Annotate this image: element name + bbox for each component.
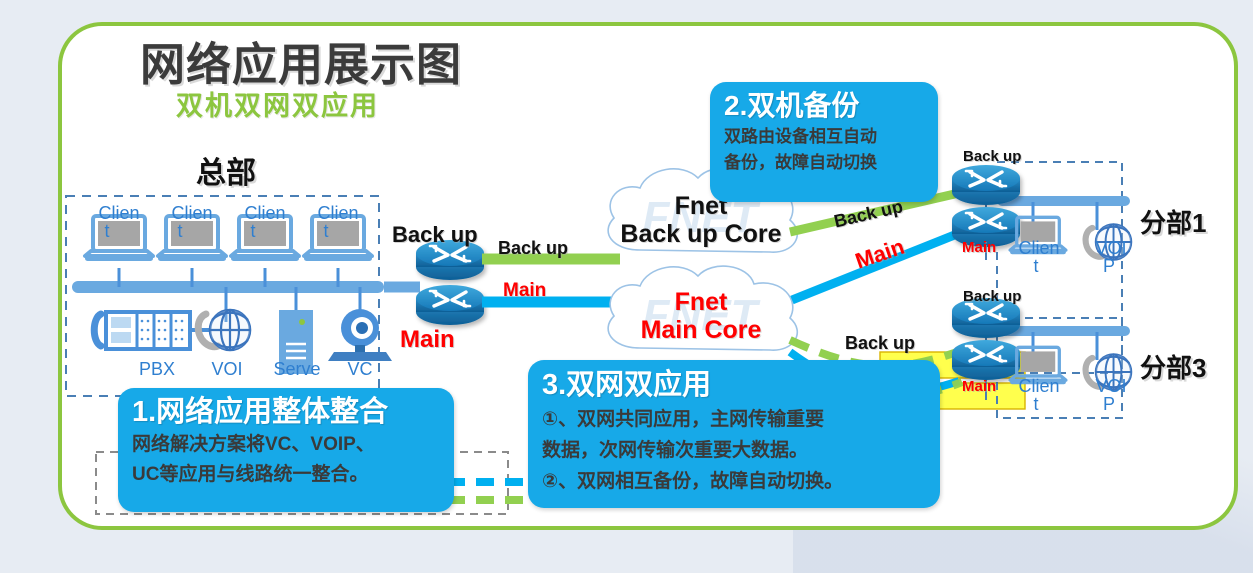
branch3-voip-label-2: P [1099,395,1119,413]
branch3-client-label-2: t [1026,395,1046,413]
callout-3-body-line1: ①、双网共同应用，主网传输重要 [542,404,926,435]
hq-main-link-label: Main [503,280,546,302]
cloud-backup-core-line2: Back up Core [620,220,781,248]
callout-1[interactable]: 1.网络应用整体整合 网络解决方案将VC、VOIP、 UC等应用与线路统一整合。 [118,388,454,512]
branch1-title: 分部1 [1140,203,1206,240]
branch1-router-main-label: Main [962,239,996,256]
vc-label: VC [337,360,383,378]
cloud-main-core-line1: Fnet [675,288,728,316]
branch1-client-label: Clien [1013,239,1065,257]
branch1-client-label-2: t [1026,257,1046,275]
callout-3-body-line3: ②、双网相互备份，故障自动切换。 [542,466,926,497]
cloud-main-core-label: Fnet Main Core [612,288,790,344]
branch3-router-main [952,340,1020,380]
cloud-main-core-line2: Main Core [641,316,762,344]
hq-client-2-label-2: t [170,222,190,240]
callout-1-heading: 1.网络应用整体整合 [132,394,440,430]
branch3-client-label: Clien [1013,377,1065,395]
hq-client-2-label: Clien [166,204,218,222]
branch3-backup-link-label: Back up [845,333,915,354]
callout-3-body-line2: 数据，次网传输次重要大数据。 [542,435,926,466]
hq-client-3-label-2: t [243,222,263,240]
hq-client-3-label: Clien [239,204,291,222]
callout-2-body-line1: 双路由设备相互自动 [724,124,924,150]
hq-client-1-label-2: t [97,222,117,240]
callout-3[interactable]: 3.双网双应用 ①、双网共同应用，主网传输重要 数据，次网传输次重要大数据。 ②… [528,360,940,508]
hq-client-4-label-2: t [316,222,336,240]
callout-2[interactable]: 2.双机备份 双路由设备相互自动 备份，故障自动切换 [710,82,938,202]
vc-icon [328,309,392,361]
branch1-bus [997,196,1130,206]
server-label: Serve [266,360,328,378]
callout-1-body-line1: 网络解决方案将VC、VOIP、 [132,430,440,460]
hq-backup-link-label: Back up [498,238,568,259]
hq-client-1-label: Clien [93,204,145,222]
branch3-router-backup-label: Back up [963,288,1021,305]
callout-1-body-line2: UC等应用与线路统一整合。 [132,460,440,490]
page-subtitle: 双机双网双应用 [176,84,379,123]
hq-router-main-label: Main [400,326,455,354]
hq-router-backup-label: Back up [392,222,478,248]
callout-2-heading: 2.双机备份 [724,88,924,124]
voi-label: VOI [200,360,254,378]
branch3-router-main-label: Main [962,378,996,395]
pbx-label: PBX [130,360,184,378]
branch1-router-backup-label: Back up [963,148,1021,165]
branch1-voip-label: VOI [1090,239,1132,257]
branch3-title: 分部3 [1140,348,1206,385]
pbx-icon [94,312,210,349]
branch1-voip-label-2: P [1099,257,1119,275]
callout-2-body-line2: 备份，故障自动切换 [724,150,924,176]
branch3-voip-label: VOI [1090,377,1132,395]
hq-title: 总部 [196,148,256,192]
branch1-router-backup [952,165,1020,205]
hq-router-main [416,285,484,325]
callout-3-heading: 3.双网双应用 [542,366,926,404]
hq-client-4-label: Clien [312,204,364,222]
